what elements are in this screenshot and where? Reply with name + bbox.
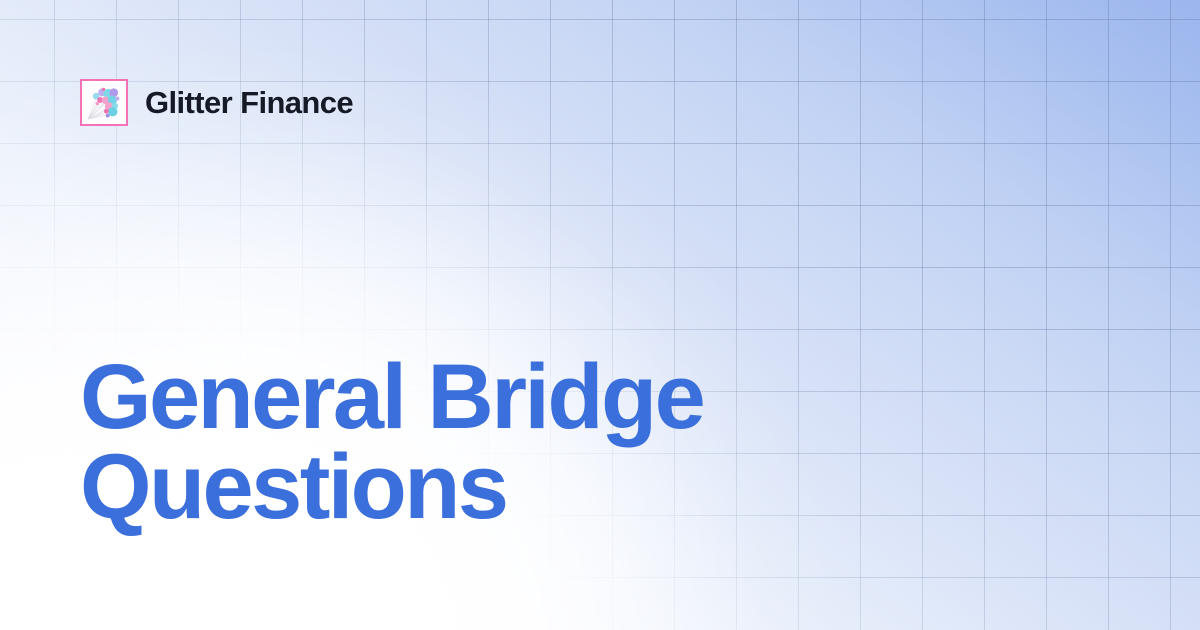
- balloon-bouquet-icon: [80, 79, 128, 126]
- card-content: Glitter Finance General Bridge Questions: [0, 0, 1200, 630]
- brand-name: Glitter Finance: [145, 87, 353, 118]
- brand-header: Glitter Finance: [80, 79, 353, 126]
- og-card: Glitter Finance General Bridge Questions: [0, 0, 1200, 630]
- page-title: General Bridge Questions: [80, 352, 840, 532]
